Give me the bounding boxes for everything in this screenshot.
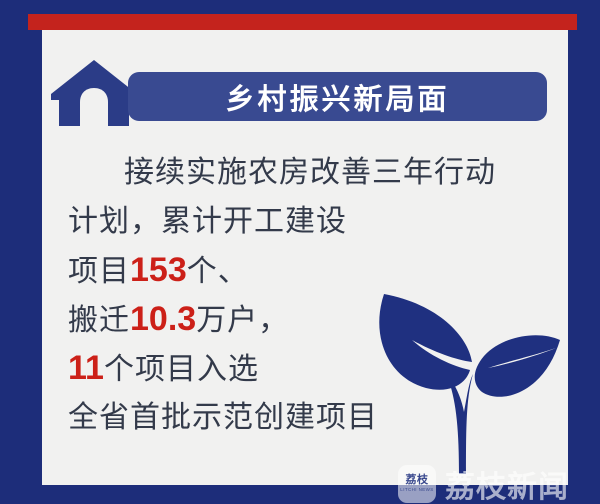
watermark-label: 荔枝新闻	[445, 462, 569, 504]
title-banner: 乡村振兴新局面	[128, 72, 547, 121]
body-line: 11个项目入选	[68, 344, 548, 393]
top-accent-bar	[28, 14, 577, 30]
body-line: 全省首批示范创建项目	[68, 393, 548, 442]
body-text-segment: 计划，累计开工建设	[68, 205, 347, 238]
highlight-number: 10.3	[130, 300, 196, 338]
watermark-badge-cn: 荔枝	[406, 475, 429, 486]
content-card: 乡村振兴新局面 接续实施农房改善三年行动计划，累计开工建设项目153个、搬迁10…	[42, 30, 568, 485]
poster-root: 乡村振兴新局面 接续实施农房改善三年行动计划，累计开工建设项目153个、搬迁10…	[0, 0, 600, 504]
page-title: 乡村振兴新局面	[225, 76, 449, 118]
body-line: 计划，累计开工建设	[68, 197, 548, 246]
body-line: 接续实施农房改善三年行动	[68, 148, 548, 197]
body-text-segment: 个项目入选	[104, 353, 259, 386]
body-line: 项目153个、	[68, 246, 548, 295]
house-icon	[50, 58, 138, 126]
highlight-number: 153	[130, 251, 187, 289]
body-text-segment: 个、	[187, 255, 249, 288]
watermark-logo-badge: 荔枝 LITCHI NEWS	[398, 465, 436, 503]
highlight-number: 11	[68, 349, 104, 387]
body-text-segment: 万户，	[196, 304, 289, 337]
body-line: 搬迁10.3万户，	[68, 295, 548, 344]
body-text-segment: 搬迁	[68, 304, 130, 337]
watermark: 荔枝 LITCHI NEWS 荔枝新闻	[398, 462, 569, 504]
watermark-badge-en: LITCHI NEWS	[400, 488, 433, 493]
body-text-segment: 接续实施农房改善三年行动	[124, 156, 496, 189]
body-text-segment: 全省首批示范创建项目	[68, 401, 378, 434]
body-text-segment: 项目	[68, 255, 130, 288]
body-text: 接续实施农房改善三年行动计划，累计开工建设项目153个、搬迁10.3万户，11个…	[68, 148, 548, 442]
